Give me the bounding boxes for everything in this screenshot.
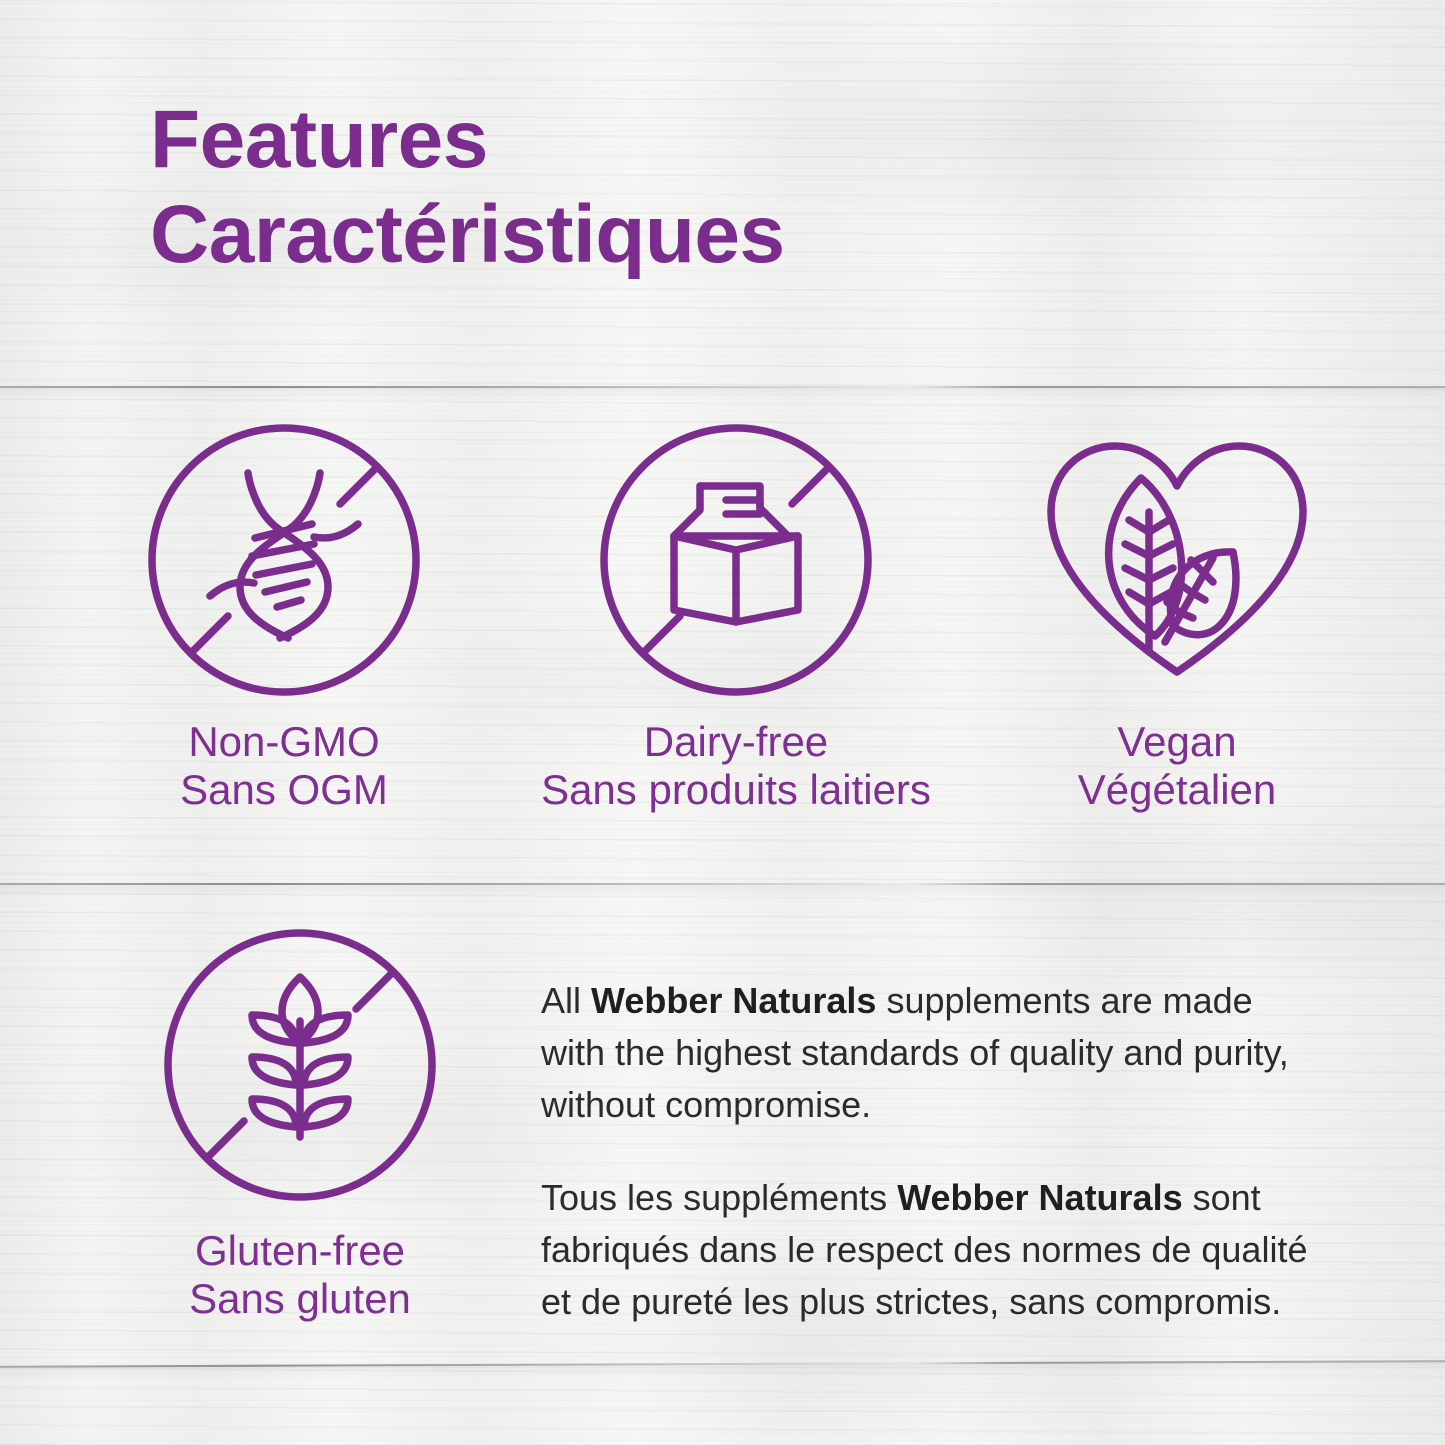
no-gluten-wheat-icon [160, 925, 440, 1205]
feature-label-english: Non-GMO [180, 718, 388, 766]
feature-label-dairy-free: Dairy-free Sans produits laitiers [541, 718, 931, 814]
vegan-heart-leaves-icon [1037, 420, 1317, 700]
feature-label-french: Végétalien [1078, 766, 1277, 814]
feature-non-gmo: Non-GMO Sans OGM [58, 420, 510, 814]
feature-label-non-gmo: Non-GMO Sans OGM [180, 718, 388, 814]
feature-label-english: Dairy-free [541, 718, 931, 766]
statement-fr-before: Tous les suppléments [541, 1177, 897, 1218]
no-dairy-milk-carton-icon [596, 420, 876, 700]
feature-label-english: Gluten-free [189, 1227, 411, 1275]
brand-statement-english: All Webber Naturals supplements are made… [541, 975, 1321, 1130]
infographic-canvas: Features Caractéristiques [0, 0, 1445, 1445]
feature-label-french: Sans gluten [189, 1275, 411, 1323]
statement-fr-brand: Webber Naturals [897, 1177, 1182, 1218]
statement-en-before: All [541, 980, 591, 1021]
brand-statement-french: Tous les suppléments Webber Naturals son… [541, 1172, 1321, 1327]
page-title-french: Caractéristiques [150, 191, 1330, 280]
page-title: Features Caractéristiques [150, 96, 1330, 279]
feature-label-french: Sans produits laitiers [541, 766, 931, 814]
feature-gluten-free: Gluten-free Sans gluten [150, 925, 450, 1323]
feature-label-vegan: Vegan Végétalien [1078, 718, 1277, 814]
no-gmo-dna-icon [144, 420, 424, 700]
page-title-english: Features [150, 96, 1330, 185]
brand-statement: All Webber Naturals supplements are made… [541, 975, 1321, 1328]
feature-vegan: Vegan Végétalien [962, 420, 1392, 814]
statement-en-brand: Webber Naturals [591, 980, 876, 1021]
feature-icon-row: Non-GMO Sans OGM [0, 420, 1445, 814]
feature-label-english: Vegan [1078, 718, 1277, 766]
feature-dairy-free: Dairy-free Sans produits laitiers [510, 420, 962, 814]
feature-label-french: Sans OGM [180, 766, 388, 814]
feature-label-gluten-free: Gluten-free Sans gluten [189, 1227, 411, 1323]
